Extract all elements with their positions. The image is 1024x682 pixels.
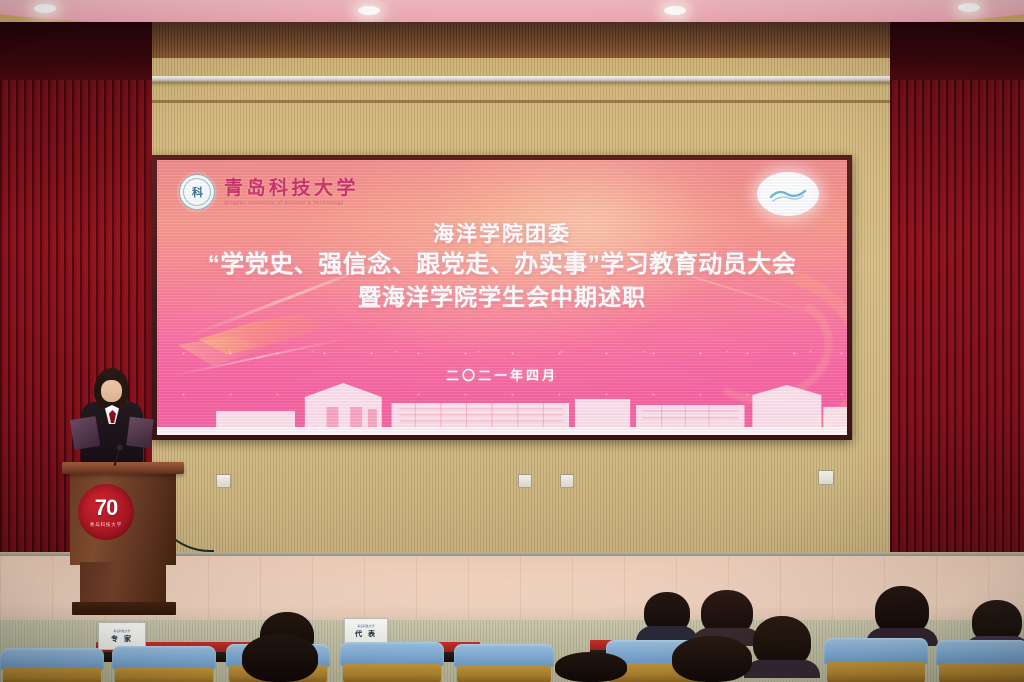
led-screen-bezel: 科 青岛科技大学 Qingdao University of Science &…: [152, 155, 852, 440]
ocean-college-emblem-icon: [757, 172, 819, 216]
ceiling-downlight: [34, 4, 56, 13]
audience-person-front: [548, 652, 634, 682]
screen-title-block: 海洋学院团委 “学党史、强信念、跟党走、办实事”学习教育动员大会 暨海洋学院学生…: [157, 222, 847, 313]
led-screen: 科 青岛科技大学 Qingdao University of Science &…: [157, 160, 847, 435]
audience-seat[interactable]: [936, 640, 1024, 682]
screen-date: 二〇二一年四月: [157, 365, 847, 384]
auditorium-scene: 科 青岛科技大学 Qingdao University of Science &…: [0, 0, 1024, 682]
audience-seat[interactable]: [112, 646, 216, 682]
name-placard: 青岛科技大学 代 表: [344, 618, 388, 644]
university-name-cn: 青岛科技大学: [224, 179, 359, 198]
placard-name: 专 家: [111, 634, 133, 644]
curtain-top-shadow: [0, 22, 152, 80]
placard-org: 青岛科技大学: [357, 624, 374, 628]
podium-top: [62, 462, 184, 474]
curtain-top-shadow: [890, 22, 1024, 80]
audience-seat[interactable]: [824, 638, 928, 682]
placard-org: 青岛科技大学: [113, 629, 130, 633]
ceiling-downlight: [958, 3, 980, 12]
anniversary-number: 70: [95, 497, 117, 519]
podium-anniversary-emblem: 70 青岛科技大学: [78, 484, 134, 540]
ribbon-graphic: [198, 314, 328, 360]
ceiling-downlight: [664, 6, 686, 15]
wall-trim-line: [0, 100, 1024, 103]
document-folder: [70, 416, 100, 450]
title-line-2: “学党史、强信念、跟党走、办实事”学习教育动员大会: [157, 248, 847, 283]
audience-person-front: [234, 634, 326, 682]
person-head: [672, 636, 752, 682]
university-name-en: Qingdao University of Science & Technolo…: [224, 201, 359, 206]
person-head: [242, 634, 318, 682]
speaker-face: [101, 380, 122, 402]
placard-name: 代 表: [355, 629, 377, 639]
wall-upper-band: [0, 22, 1024, 58]
podium-group: 70 青岛科技大学: [58, 366, 188, 616]
audience-seat[interactable]: [454, 644, 554, 682]
university-seal-icon: 科: [179, 174, 215, 210]
audience-seat[interactable]: [340, 642, 444, 682]
audience-person-front: [664, 636, 760, 682]
curtain-rail: [0, 76, 1024, 82]
title-line-1: 海洋学院团委: [157, 222, 847, 248]
podium-foot: [72, 602, 176, 615]
audience-person: [866, 586, 938, 646]
wall-socket: [518, 474, 532, 488]
title-line-3: 暨海洋学院学生会中期述职: [157, 283, 847, 313]
university-lockup: 科 青岛科技大学 Qingdao University of Science &…: [179, 174, 359, 210]
ribbon-graphic: [178, 336, 268, 366]
stage-curtain-right: [890, 22, 1024, 567]
wall-socket: [216, 474, 231, 488]
wave-icon: [768, 183, 808, 205]
person-head: [555, 652, 627, 682]
wall-socket: [560, 474, 574, 488]
wall-socket: [818, 470, 834, 485]
anniversary-subtitle: 青岛科技大学: [90, 522, 122, 528]
audience-seat[interactable]: [0, 648, 104, 682]
document-folder: [126, 417, 153, 449]
ceiling-downlight: [358, 6, 380, 15]
